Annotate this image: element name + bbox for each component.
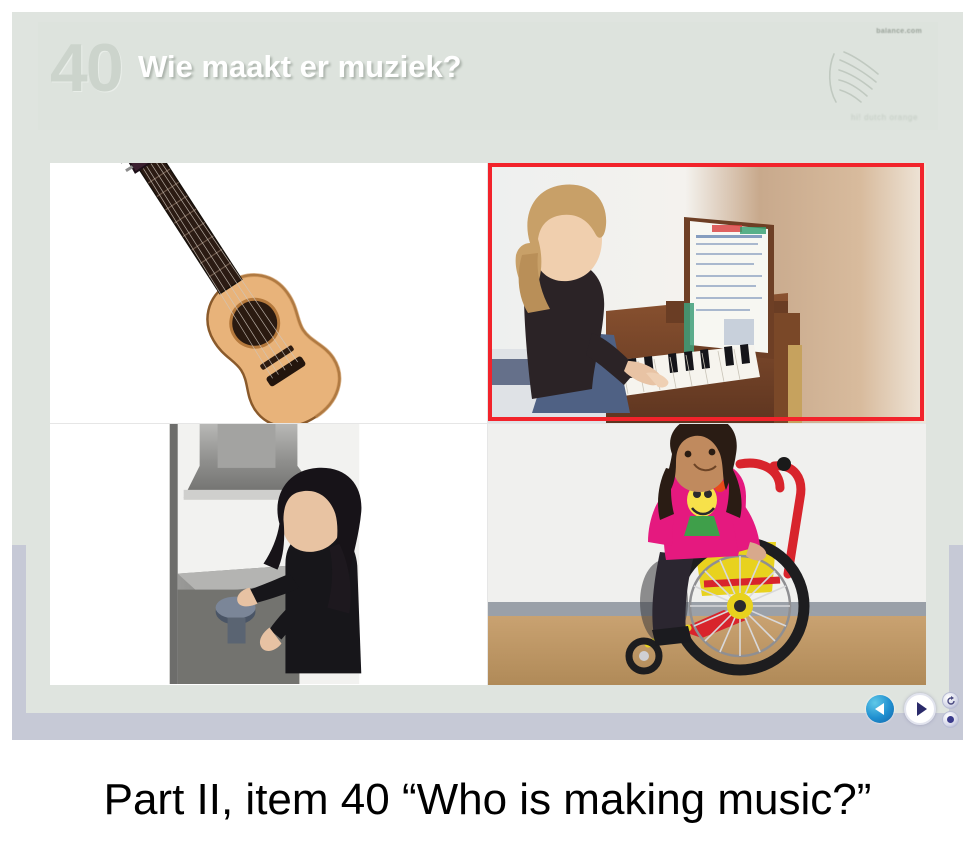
figure-caption: Part II, item 40 “Who is making music?” <box>0 775 975 825</box>
girl-playing-piano-image <box>488 163 926 424</box>
slide-header: 40 Wie maakt er muziek? balance.com hi! … <box>38 22 938 130</box>
slide-nav-controls <box>866 692 966 732</box>
record-dot-icon <box>947 716 954 723</box>
girl-in-wheelchair-image <box>488 424 926 685</box>
logo-caption: hi! dutch orange <box>851 113 918 122</box>
woman-cooking-in-kitchen-image <box>50 424 487 684</box>
triangle-left-icon <box>875 703 884 715</box>
replay-icon <box>946 696 956 706</box>
logo-wordmark: balance.com <box>876 28 922 35</box>
answer-options-panel <box>50 163 926 685</box>
answer-grid <box>50 163 926 685</box>
answer-option-guitar[interactable] <box>50 163 488 424</box>
logo-block: balance.com hi! dutch orange <box>776 26 924 128</box>
acoustic-guitar-image <box>50 163 487 423</box>
page-title: Wie maakt er muziek? <box>138 49 462 85</box>
item-number: 40 <box>50 34 122 102</box>
answer-option-piano[interactable] <box>488 163 926 424</box>
replay-audio-button[interactable] <box>942 692 959 709</box>
answer-option-wheelchair[interactable] <box>488 424 926 685</box>
play-button[interactable] <box>904 693 936 725</box>
record-button[interactable] <box>942 711 959 728</box>
back-button[interactable] <box>866 695 894 723</box>
answer-option-kitchen[interactable] <box>50 424 488 685</box>
triangle-right-icon <box>917 702 927 716</box>
wheat-stalk-logo-icon <box>820 48 890 106</box>
